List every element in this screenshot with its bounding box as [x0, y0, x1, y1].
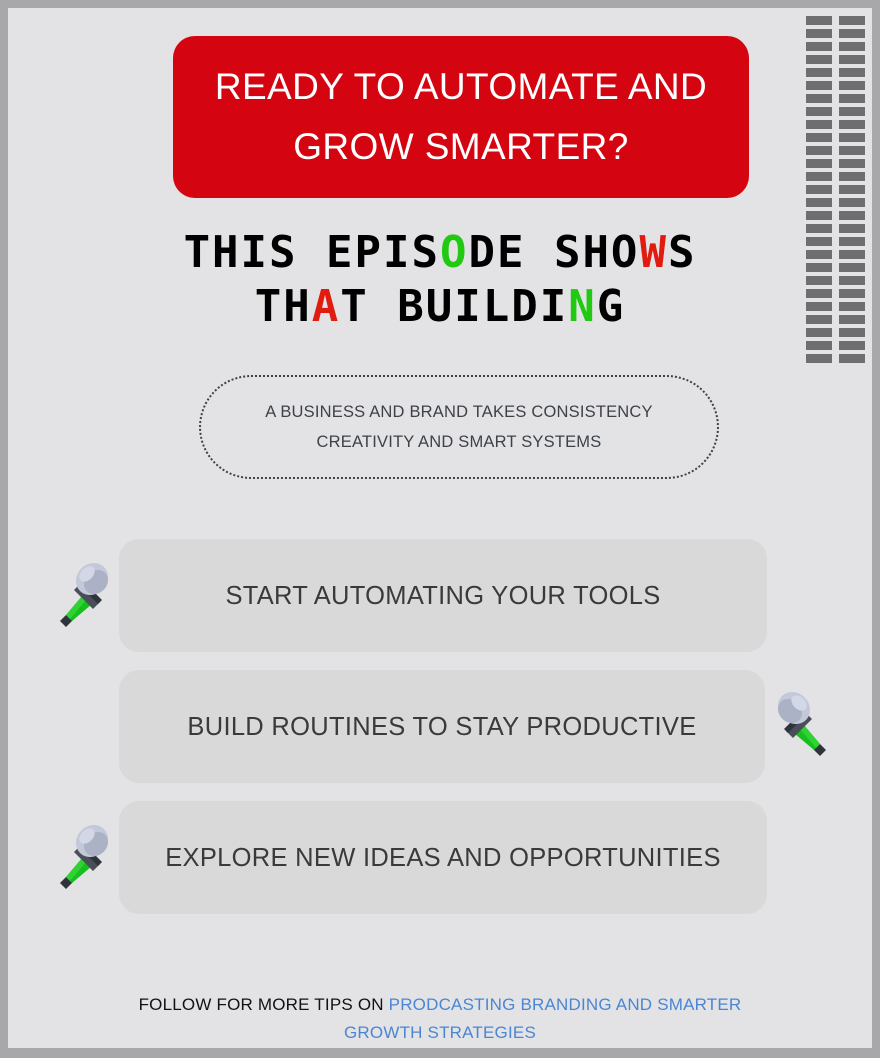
- dash-mark: [839, 42, 865, 51]
- list-item-label: EXPLORE NEW IDEAS AND OPPORTUNITIES: [165, 842, 721, 874]
- dash-mark: [839, 341, 865, 350]
- dash-mark: [806, 81, 832, 90]
- list-item-card[interactable]: EXPLORE NEW IDEAS AND OPPORTUNITIES: [119, 801, 767, 914]
- dash-mark: [839, 198, 865, 207]
- dash-mark: [806, 16, 832, 25]
- list-item-label: BUILD ROUTINES TO STAY PRODUCTIVE: [187, 711, 696, 743]
- list-item[interactable]: START AUTOMATING YOUR TOOLS: [8, 539, 872, 652]
- headline-segment: N: [568, 281, 597, 332]
- subtitle-line-1: A BUSINESS AND BRAND TAKES CONSISTENCY: [265, 403, 653, 421]
- dash-mark: [839, 159, 865, 168]
- microphone-icon: [774, 688, 836, 758]
- dash-mark: [806, 94, 832, 103]
- dash-mark: [806, 354, 832, 363]
- list-item[interactable]: EXPLORE NEW IDEAS AND OPPORTUNITIES: [8, 801, 872, 914]
- headline-line-2: THAT BUILDING: [8, 280, 872, 334]
- dash-mark: [806, 146, 832, 155]
- dash-mark: [806, 172, 832, 181]
- dash-mark: [839, 185, 865, 194]
- dash-mark: [839, 146, 865, 155]
- dash-mark: [806, 185, 832, 194]
- dash-mark: [806, 198, 832, 207]
- dash-mark: [839, 81, 865, 90]
- dash-mark: [806, 120, 832, 129]
- dash-mark: [839, 16, 865, 25]
- list-item-card[interactable]: START AUTOMATING YOUR TOOLS: [119, 539, 767, 652]
- headline-segment: A: [312, 281, 341, 332]
- dash-mark: [839, 133, 865, 142]
- list-item[interactable]: BUILD ROUTINES TO STAY PRODUCTIVE: [8, 670, 872, 783]
- dash-mark: [806, 55, 832, 64]
- headline-segment: S: [668, 227, 697, 278]
- banner-text: READY TO AUTOMATE AND GROW SMARTER?: [215, 57, 707, 177]
- dash-mark: [806, 29, 832, 38]
- headline-segment: O: [440, 227, 469, 278]
- list-item-label: START AUTOMATING YOUR TOOLS: [225, 580, 660, 612]
- list-item-card[interactable]: BUILD ROUTINES TO STAY PRODUCTIVE: [119, 670, 765, 783]
- headline-segment: DE SHO: [468, 227, 639, 278]
- footer-cta: FOLLOW FOR MORE TIPS ON PRODCASTING BRAN…: [8, 991, 872, 1047]
- footer-lead-text: FOLLOW FOR MORE TIPS ON: [139, 995, 389, 1014]
- microphone-icon: [50, 821, 112, 891]
- headline-segment: TH: [255, 281, 312, 332]
- headline-banner: READY TO AUTOMATE AND GROW SMARTER?: [173, 36, 749, 198]
- dash-mark: [806, 341, 832, 350]
- footer-link[interactable]: PRODCASTING BRANDING AND SMARTER GROWTH …: [344, 995, 741, 1042]
- headline-segment: W: [639, 227, 668, 278]
- dash-mark: [839, 107, 865, 116]
- dash-mark: [806, 133, 832, 142]
- dash-mark: [839, 94, 865, 103]
- dash-mark: [839, 55, 865, 64]
- dash-mark: [806, 159, 832, 168]
- dash-mark: [806, 211, 832, 220]
- headline-segment: T BUILDI: [340, 281, 568, 332]
- dash-mark: [839, 172, 865, 181]
- subtitle-box: A BUSINESS AND BRAND TAKES CONSISTENCY C…: [199, 375, 719, 479]
- dash-mark: [839, 211, 865, 220]
- dash-mark: [839, 120, 865, 129]
- headline-segment: THIS EPIS: [184, 227, 440, 278]
- dash-mark: [806, 42, 832, 51]
- dash-mark: [806, 68, 832, 77]
- microphone-icon: [50, 559, 112, 629]
- dash-mark: [806, 107, 832, 116]
- banner-line-2: GROW SMARTER?: [293, 126, 629, 167]
- dash-mark: [839, 68, 865, 77]
- poster-canvas: READY TO AUTOMATE AND GROW SMARTER? THIS…: [8, 8, 872, 1048]
- dash-mark: [839, 29, 865, 38]
- headline-line-1: THIS EPISODE SHOWS: [8, 226, 872, 280]
- dash-mark: [839, 354, 865, 363]
- subtitle-text: A BUSINESS AND BRAND TAKES CONSISTENCY C…: [265, 397, 653, 457]
- subtitle-line-2: CREATIVITY AND SMART SYSTEMS: [317, 433, 602, 451]
- banner-line-1: READY TO AUTOMATE AND: [215, 66, 707, 107]
- headline-segment: G: [597, 281, 626, 332]
- page-title: THIS EPISODE SHOWS THAT BUILDING: [8, 226, 872, 334]
